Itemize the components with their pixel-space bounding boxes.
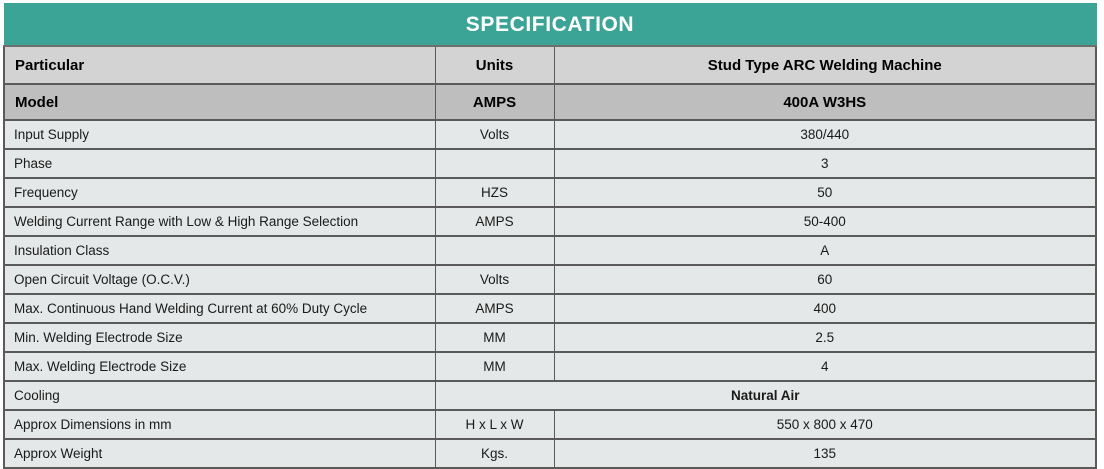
- row-value: 3: [554, 149, 1096, 178]
- title-banner-row: SPECIFICATION: [4, 4, 1096, 47]
- row-particular: Phase: [4, 149, 435, 178]
- row-value: A: [554, 236, 1096, 265]
- model-row: Model AMPS 400A W3HS: [4, 84, 1096, 120]
- row-particular: Min. Welding Electrode Size: [4, 323, 435, 352]
- table-row: Input Supply Volts 380/440: [4, 120, 1096, 149]
- row-value-merged: Natural Air: [435, 381, 1096, 410]
- model-value: 400A W3HS: [554, 84, 1096, 120]
- table-row: Approx Dimensions in mm H x L x W 550 x …: [4, 410, 1096, 439]
- column-header-particular: Particular: [4, 46, 435, 84]
- row-value: 50-400: [554, 207, 1096, 236]
- specification-sheet: SPECIFICATION Particular Units Stud Type…: [0, 0, 1104, 466]
- row-particular: Max. Welding Electrode Size: [4, 352, 435, 381]
- table-row: Open Circuit Voltage (O.C.V.) Volts 60: [4, 265, 1096, 294]
- row-units: MM: [435, 323, 554, 352]
- specification-table: SPECIFICATION Particular Units Stud Type…: [3, 3, 1097, 469]
- row-units: Volts: [435, 265, 554, 294]
- column-header-units: Units: [435, 46, 554, 84]
- table-body: SPECIFICATION Particular Units Stud Type…: [4, 4, 1096, 469]
- row-units: [435, 236, 554, 265]
- row-units: AMPS: [435, 207, 554, 236]
- row-particular: Input Supply: [4, 120, 435, 149]
- row-value: 2.5: [554, 323, 1096, 352]
- model-units: AMPS: [435, 84, 554, 120]
- table-row: Max. Welding Electrode Size MM 4: [4, 352, 1096, 381]
- row-units: [435, 149, 554, 178]
- table-row: Frequency HZS 50: [4, 178, 1096, 207]
- row-particular: Max. Continuous Hand Welding Current at …: [4, 294, 435, 323]
- row-particular: Cooling: [4, 381, 435, 410]
- row-particular: Welding Current Range with Low & High Ra…: [4, 207, 435, 236]
- row-particular: Approx Weight: [4, 439, 435, 468]
- column-header-machine: Stud Type ARC Welding Machine: [554, 46, 1096, 84]
- row-value: 50: [554, 178, 1096, 207]
- table-row: Insulation Class A: [4, 236, 1096, 265]
- row-particular: Open Circuit Voltage (O.C.V.): [4, 265, 435, 294]
- row-units: HZS: [435, 178, 554, 207]
- table-row: Approx Weight Kgs. 135: [4, 439, 1096, 468]
- table-row: Welding Current Range with Low & High Ra…: [4, 207, 1096, 236]
- row-units: H x L x W: [435, 410, 554, 439]
- row-value: 380/440: [554, 120, 1096, 149]
- row-value: 400: [554, 294, 1096, 323]
- row-value: 60: [554, 265, 1096, 294]
- row-units: MM: [435, 352, 554, 381]
- model-label: Model: [4, 84, 435, 120]
- row-units: AMPS: [435, 294, 554, 323]
- column-header-row: Particular Units Stud Type ARC Welding M…: [4, 46, 1096, 84]
- document-title: SPECIFICATION: [4, 4, 1096, 47]
- row-value: 550 x 800 x 470: [554, 410, 1096, 439]
- table-row: Max. Continuous Hand Welding Current at …: [4, 294, 1096, 323]
- table-row: Min. Welding Electrode Size MM 2.5: [4, 323, 1096, 352]
- row-particular: Insulation Class: [4, 236, 435, 265]
- row-particular: Frequency: [4, 178, 435, 207]
- row-particular: Approx Dimensions in mm: [4, 410, 435, 439]
- table-row: Phase 3: [4, 149, 1096, 178]
- row-units: Kgs.: [435, 439, 554, 468]
- row-value: 4: [554, 352, 1096, 381]
- row-value: 135: [554, 439, 1096, 468]
- table-row-cooling: Cooling Natural Air: [4, 381, 1096, 410]
- row-units: Volts: [435, 120, 554, 149]
